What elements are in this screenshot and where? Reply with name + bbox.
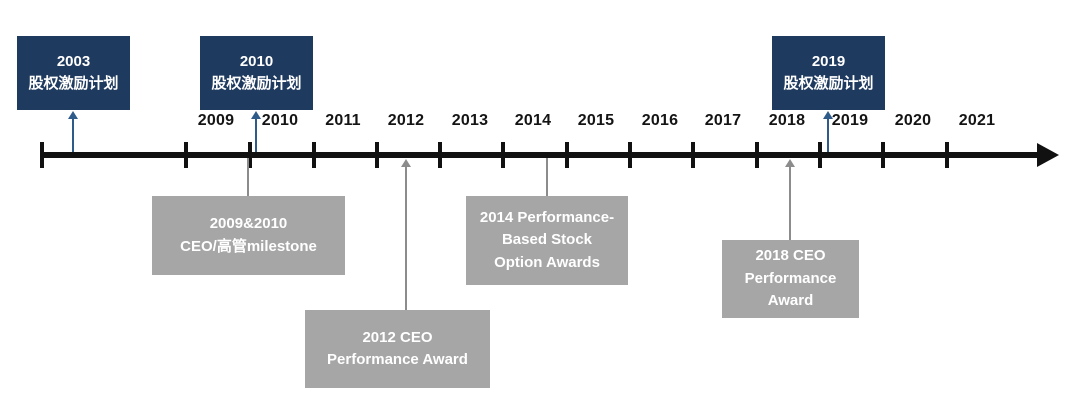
axis-year-2020: 2020 <box>895 112 931 130</box>
event-2019-connector <box>827 118 829 152</box>
axis-year-2019: 2019 <box>832 112 868 130</box>
event-2010-label: 股权激励计划 <box>211 73 301 95</box>
axis-tick <box>945 142 949 168</box>
callout-2018-line2: Performance <box>745 268 837 291</box>
event-2019-label: 股权激励计划 <box>783 73 873 95</box>
callout-box-2012[interactable]: 2012 CEO Performance Award <box>305 310 490 388</box>
callout-2012-line1: 2012 CEO <box>362 327 432 350</box>
event-box-2003[interactable]: 2003 股权激励计划 <box>17 36 130 110</box>
callout-2014-line3: Option Awards <box>494 252 600 275</box>
callout-2014-line2: Based Stock <box>502 229 592 252</box>
event-box-2019[interactable]: 2019 股权激励计划 <box>772 36 885 110</box>
axis-tick <box>184 142 188 168</box>
callout-2018-line3: Award <box>768 290 814 313</box>
callout-2009-2010-line2: CEO/高管milestone <box>180 236 317 259</box>
callout-2009-2010-connector <box>247 158 249 196</box>
axis-tick <box>40 142 44 168</box>
axis-year-2013: 2013 <box>452 112 488 130</box>
axis-tick <box>628 142 632 168</box>
axis-tick <box>501 142 505 168</box>
event-2003-year: 2003 <box>57 51 90 73</box>
callout-2018-line1: 2018 CEO <box>755 245 825 268</box>
event-2003-connector <box>72 118 74 152</box>
callout-box-2018[interactable]: 2018 CEO Performance Award <box>722 240 859 318</box>
callout-box-2009-2010[interactable]: 2009&2010 CEO/高管milestone <box>152 196 345 275</box>
callout-box-2014[interactable]: 2014 Performance- Based Stock Option Awa… <box>466 196 628 285</box>
axis-year-2012: 2012 <box>388 112 424 130</box>
callout-2012-line2: Performance Award <box>327 349 468 372</box>
axis-year-2018: 2018 <box>769 112 805 130</box>
callout-2014-line1: 2014 Performance- <box>480 207 614 230</box>
callout-2012-connector <box>405 166 407 310</box>
timeline-diagram: 2009 2010 2011 2012 2013 2014 2015 2016 … <box>0 0 1080 405</box>
axis-tick <box>818 142 822 168</box>
axis-year-2017: 2017 <box>705 112 741 130</box>
axis-tick <box>881 142 885 168</box>
axis-year-2010: 2010 <box>262 112 298 130</box>
event-box-2010[interactable]: 2010 股权激励计划 <box>200 36 313 110</box>
event-2010-year: 2010 <box>240 51 273 73</box>
callout-2012-arrow-icon <box>401 159 411 167</box>
event-2019-year: 2019 <box>812 51 845 73</box>
axis-year-2014: 2014 <box>515 112 551 130</box>
axis-tick <box>691 142 695 168</box>
axis-year-2015: 2015 <box>578 112 614 130</box>
timeline-arrow-icon <box>1037 143 1059 167</box>
event-2010-arrow-icon <box>251 111 261 119</box>
callout-2014-connector <box>546 158 548 196</box>
event-2010-connector <box>255 118 257 152</box>
timeline-axis-line <box>40 152 1050 158</box>
axis-year-2011: 2011 <box>325 112 361 130</box>
axis-year-2009: 2009 <box>198 112 234 130</box>
axis-tick <box>755 142 759 168</box>
axis-tick <box>438 142 442 168</box>
event-2019-arrow-icon <box>823 111 833 119</box>
callout-2018-arrow-icon <box>785 159 795 167</box>
axis-tick <box>312 142 316 168</box>
event-2003-arrow-icon <box>68 111 78 119</box>
event-2003-label: 股权激励计划 <box>28 73 118 95</box>
axis-tick <box>375 142 379 168</box>
axis-tick <box>565 142 569 168</box>
callout-2018-connector <box>789 166 791 240</box>
callout-2009-2010-line1: 2009&2010 <box>210 213 288 236</box>
axis-year-2016: 2016 <box>642 112 678 130</box>
axis-year-2021: 2021 <box>959 112 995 130</box>
